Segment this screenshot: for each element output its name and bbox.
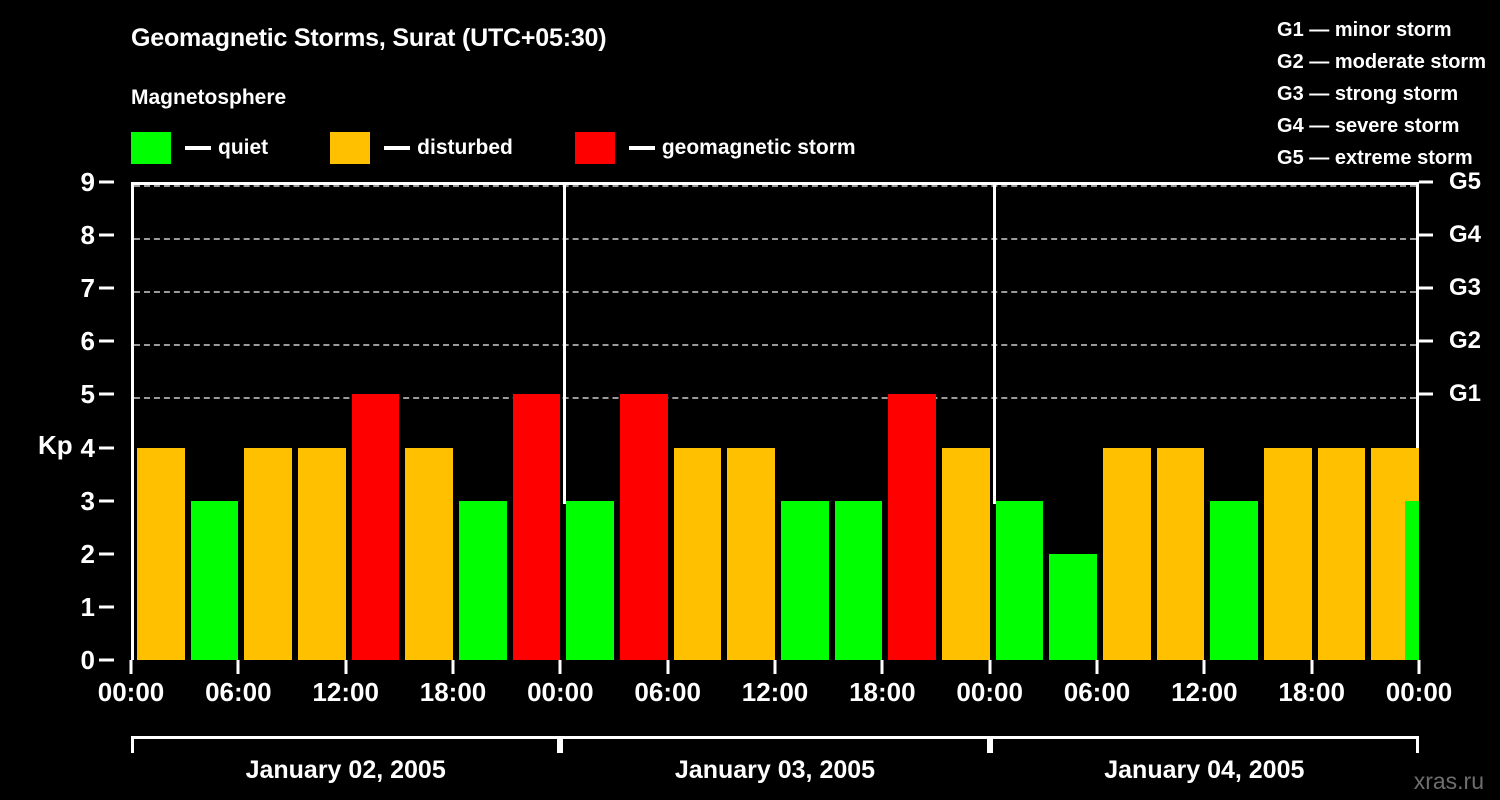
bar [674,448,722,660]
bar [1210,501,1258,660]
y-tick-mark-2 [99,552,114,555]
legend-dash-icon [384,146,410,150]
bar [1264,448,1312,660]
x-tick-mark-8 [988,660,991,674]
color-legend: quietdisturbedgeomagnetic storm [131,132,856,164]
x-tick-mark-2 [344,660,347,674]
x-tick-mark-3 [452,660,455,674]
x-tick-label-10: 12:00 [1171,679,1238,705]
legend-dash-icon [629,146,655,150]
g-axis-label-g5: G5 [1449,170,1481,194]
y-tick-mark-5 [99,393,114,396]
date-band-3: January 04, 2005 [990,736,1419,800]
x-tick-mark-12 [1418,660,1421,674]
x-tick-label-11: 18:00 [1278,679,1345,705]
legend-entry-disturbed: disturbed [330,132,513,164]
g-scale-axis: G1G2G3G4G5 [1419,182,1500,660]
bar [781,501,829,660]
g-tick-mark-g1 [1419,393,1433,396]
bar [727,448,775,660]
y-tick-label-2: 2 [81,541,95,567]
y-tick-label-5: 5 [81,381,95,407]
x-tick-mark-9 [1096,660,1099,674]
bar [1157,448,1205,660]
bar [566,501,614,660]
page-title: Geomagnetic Storms, Surat (UTC+05:30) [131,24,606,53]
bar [835,501,883,660]
y-axis: 0123456789 [0,182,131,660]
bar [888,394,936,660]
y-tick-label-7: 7 [81,275,95,301]
x-tick-label-1: 06:00 [205,679,272,705]
y-tick-mark-7 [99,287,114,290]
bar [942,448,990,660]
g-legend-row-g1: G1 — minor storm [1277,14,1486,46]
legend-swatch-storm [575,132,615,164]
legend-dash-icon [185,146,211,150]
x-tick-mark-11 [1310,660,1313,674]
bar [244,448,292,660]
legend-swatch-quiet [131,132,171,164]
date-bands: January 02, 2005January 03, 2005January … [0,736,1500,800]
x-tick-label-12: 00:00 [1386,679,1453,705]
bar-series [134,185,1416,660]
g-axis-label-g4: G4 [1449,223,1481,247]
day-divider-1 [563,185,566,504]
y-tick-label-9: 9 [81,169,95,195]
y-axis-title: Kp [38,430,73,461]
date-label-1: January 02, 2005 [131,756,560,785]
bar [620,394,668,660]
x-tick-label-6: 12:00 [742,679,809,705]
bar [1318,448,1366,660]
x-tick-label-7: 18:00 [849,679,916,705]
g-tick-mark-g2 [1419,340,1433,343]
x-tick-mark-1 [237,660,240,674]
watermark: xras.ru [1414,768,1484,795]
plot-area [131,182,1419,660]
bar [1405,501,1419,660]
g-tick-mark-g3 [1419,287,1433,290]
date-band-2: January 03, 2005 [560,736,989,800]
x-tick-mark-0 [130,660,133,674]
bar [137,448,185,660]
bar [352,394,400,660]
x-tick-label-2: 12:00 [312,679,379,705]
y-tick-label-6: 6 [81,328,95,354]
g-legend-row-g2: G2 — moderate storm [1277,46,1486,78]
x-tick-label-8: 00:00 [956,679,1023,705]
date-bracket-3 [990,736,1419,753]
y-tick-label-1: 1 [81,594,95,620]
date-label-3: January 04, 2005 [990,756,1419,785]
g-axis-label-g2: G2 [1449,329,1481,353]
g-tick-mark-g5 [1419,181,1433,184]
legend-label-disturbed: disturbed [417,136,513,160]
legend-label-storm: geomagnetic storm [662,136,856,160]
bar [405,448,453,660]
legend-swatch-disturbed [330,132,370,164]
bar [513,394,561,660]
x-tick-mark-10 [1203,660,1206,674]
x-tick-label-5: 06:00 [634,679,701,705]
x-tick-label-3: 18:00 [420,679,487,705]
bar [1049,554,1097,660]
date-bracket-1 [131,736,560,753]
x-tick-label-9: 06:00 [1064,679,1131,705]
g-legend-row-g3: G3 — strong storm [1277,78,1486,110]
bar [459,501,507,660]
y-tick-mark-8 [99,234,114,237]
x-tick-label-4: 00:00 [527,679,594,705]
date-bracket-2 [560,736,989,753]
legend-entry-storm: geomagnetic storm [575,132,856,164]
magnetosphere-label: Magnetosphere [131,86,286,110]
y-tick-mark-9 [99,181,114,184]
bar [191,501,239,660]
y-tick-mark-3 [99,499,114,502]
g-legend-row-g4: G4 — severe storm [1277,110,1486,142]
y-tick-mark-1 [99,605,114,608]
legend-label-quiet: quiet [218,136,268,160]
y-tick-mark-4 [99,446,114,449]
y-tick-label-4: 4 [81,435,95,461]
date-label-2: January 03, 2005 [560,756,989,785]
x-tick-mark-5 [666,660,669,674]
date-band-1: January 02, 2005 [131,736,560,800]
y-tick-label-8: 8 [81,222,95,248]
x-tick-label-0: 00:00 [98,679,165,705]
g-scale-legend: G1 — minor stormG2 — moderate stormG3 — … [1277,14,1486,174]
day-divider-2 [993,185,996,504]
g-tick-mark-g4 [1419,234,1433,237]
y-tick-mark-6 [99,340,114,343]
x-tick-mark-6 [774,660,777,674]
bar [1103,448,1151,660]
g-axis-label-g1: G1 [1449,382,1481,406]
y-tick-label-3: 3 [81,488,95,514]
x-tick-mark-4 [559,660,562,674]
x-tick-mark-7 [881,660,884,674]
x-axis: 00:0006:0012:0018:0000:0006:0012:0018:00… [0,660,1500,720]
bar [298,448,346,660]
legend-entry-quiet: quiet [131,132,268,164]
g-axis-label-g3: G3 [1449,276,1481,300]
bar [996,501,1044,660]
